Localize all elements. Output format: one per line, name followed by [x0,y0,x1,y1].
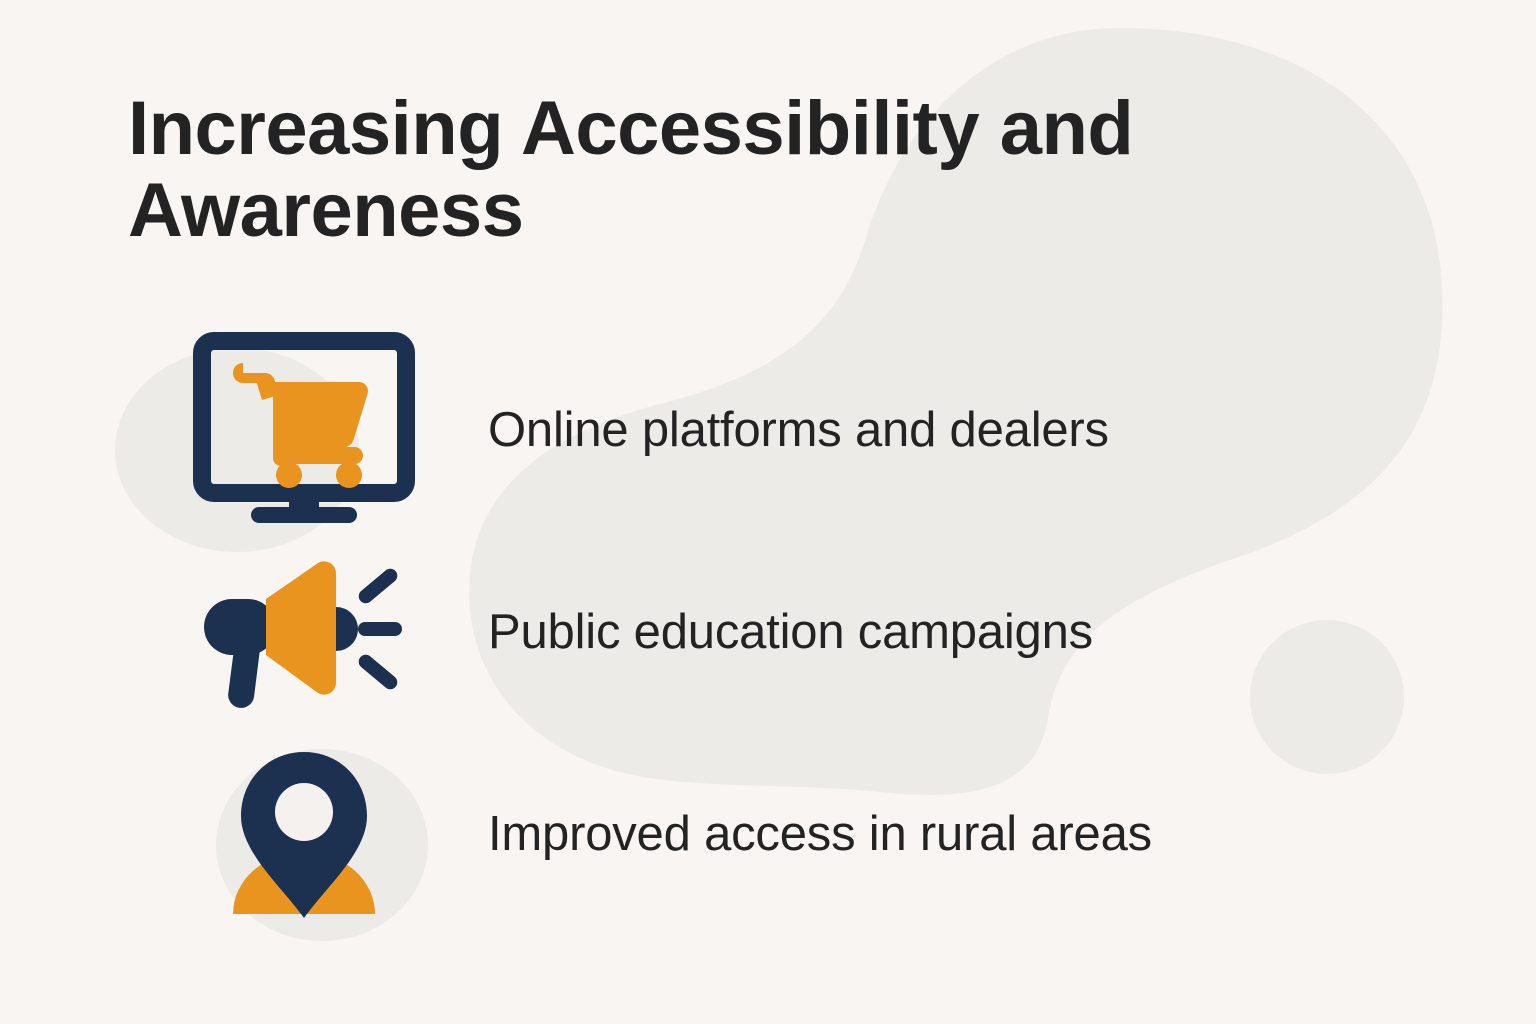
megaphone-mouth-bulge [336,607,358,651]
cart-handle [233,363,279,400]
cart-rail [279,447,363,464]
megaphone-wave-middle [358,622,402,636]
pin-hole [275,783,333,841]
page-title: Increasing Accessibility and Awareness [128,88,1388,252]
megaphone-icon [188,533,420,733]
megaphone-wave-top [356,566,400,606]
list-item-label: Online platforms and dealers [488,404,1536,458]
slide-canvas: Increasing Accessibility and Awareness [0,0,1536,1024]
megaphone-wave-bottom [356,652,400,692]
list-item: Public education campaigns [0,532,1536,734]
monitor-shopping-cart-icon [188,331,420,531]
cart-wheel-left [276,462,302,488]
list-item: Improved access in rural areas [0,734,1536,936]
feature-list: Online platforms and dealers [0,330,1536,936]
map-pin-location-icon [188,735,420,935]
list-item-label: Improved access in rural areas [488,808,1536,862]
cart-post [273,382,290,466]
cart-wheel-right [336,462,362,488]
megaphone-cone [266,561,336,694]
megaphone-handle [228,649,260,708]
list-item-label: Public education campaigns [488,606,1536,660]
list-item: Online platforms and dealers [0,330,1536,532]
megaphone-body-back [204,599,276,655]
monitor-base [251,507,357,523]
